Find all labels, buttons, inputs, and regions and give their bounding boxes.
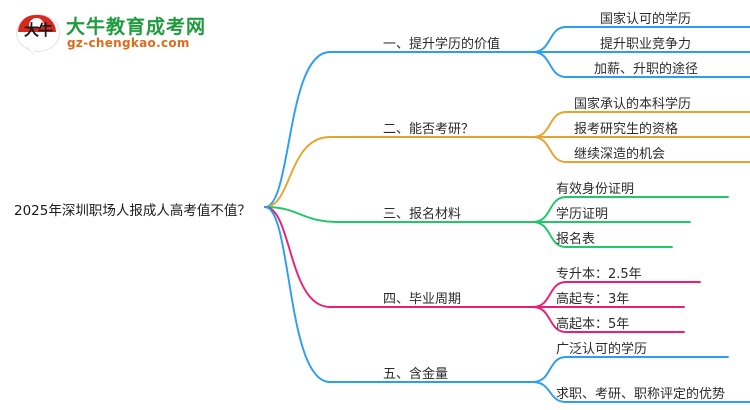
branch-node-3[interactable]: 三、报名材料: [383, 203, 461, 222]
branch-2-trunk: [265, 137, 533, 207]
leaf-node-1-2[interactable]: 提升职业竞争力: [600, 33, 691, 52]
mindmap-canvas: 大牛 大牛教育成考网 gz-chengkao.com: [0, 0, 750, 410]
leaf-node-5-2[interactable]: 求职、考研、职称评定的优势: [556, 383, 725, 402]
leaf-node-5-1[interactable]: 广泛认可的学历: [556, 338, 647, 357]
logo-mark-label: 大牛: [21, 24, 55, 48]
leaf-node-3-2[interactable]: 学历证明: [556, 203, 608, 222]
branch-5-leaf-1-link: [533, 357, 728, 382]
leaf-node-4-3[interactable]: 高起本：5年: [556, 313, 629, 332]
leaf-node-3-3[interactable]: 报名表: [556, 228, 595, 247]
branch-node-4[interactable]: 四、毕业周期: [383, 288, 461, 307]
branch-3-leaf-3-link: [533, 222, 672, 247]
logo-domain: gz-chengkao.com: [67, 36, 190, 50]
leaf-node-3-1[interactable]: 有效身份证明: [556, 178, 634, 197]
root-node[interactable]: 2025年深圳职场人报成人高考值不值？: [14, 199, 251, 219]
leaf-node-2-2[interactable]: 报考研究生的资格: [574, 118, 678, 137]
logo-mark-icon: 大牛: [14, 12, 60, 56]
branch-node-1[interactable]: 一、提升学历的价值: [383, 33, 500, 52]
branch-node-2[interactable]: 二、能否考研？: [383, 118, 474, 137]
leaf-node-4-1[interactable]: 专升本：2.5年: [556, 263, 642, 282]
leaf-node-1-3[interactable]: 加薪、升职的途径: [594, 58, 698, 77]
branch-node-5[interactable]: 五、含金量: [383, 363, 448, 382]
leaf-node-4-2[interactable]: 高起专：3年: [556, 288, 629, 307]
leaf-node-2-3[interactable]: 继续深造的机会: [574, 143, 665, 162]
site-logo[interactable]: 大牛 大牛教育成考网 gz-chengkao.com: [14, 10, 194, 58]
leaf-node-1-1[interactable]: 国家认可的学历: [600, 8, 691, 27]
logo-wordmark: 大牛教育成考网: [66, 12, 206, 39]
leaf-node-2-1[interactable]: 国家承认的本科学历: [574, 93, 691, 112]
